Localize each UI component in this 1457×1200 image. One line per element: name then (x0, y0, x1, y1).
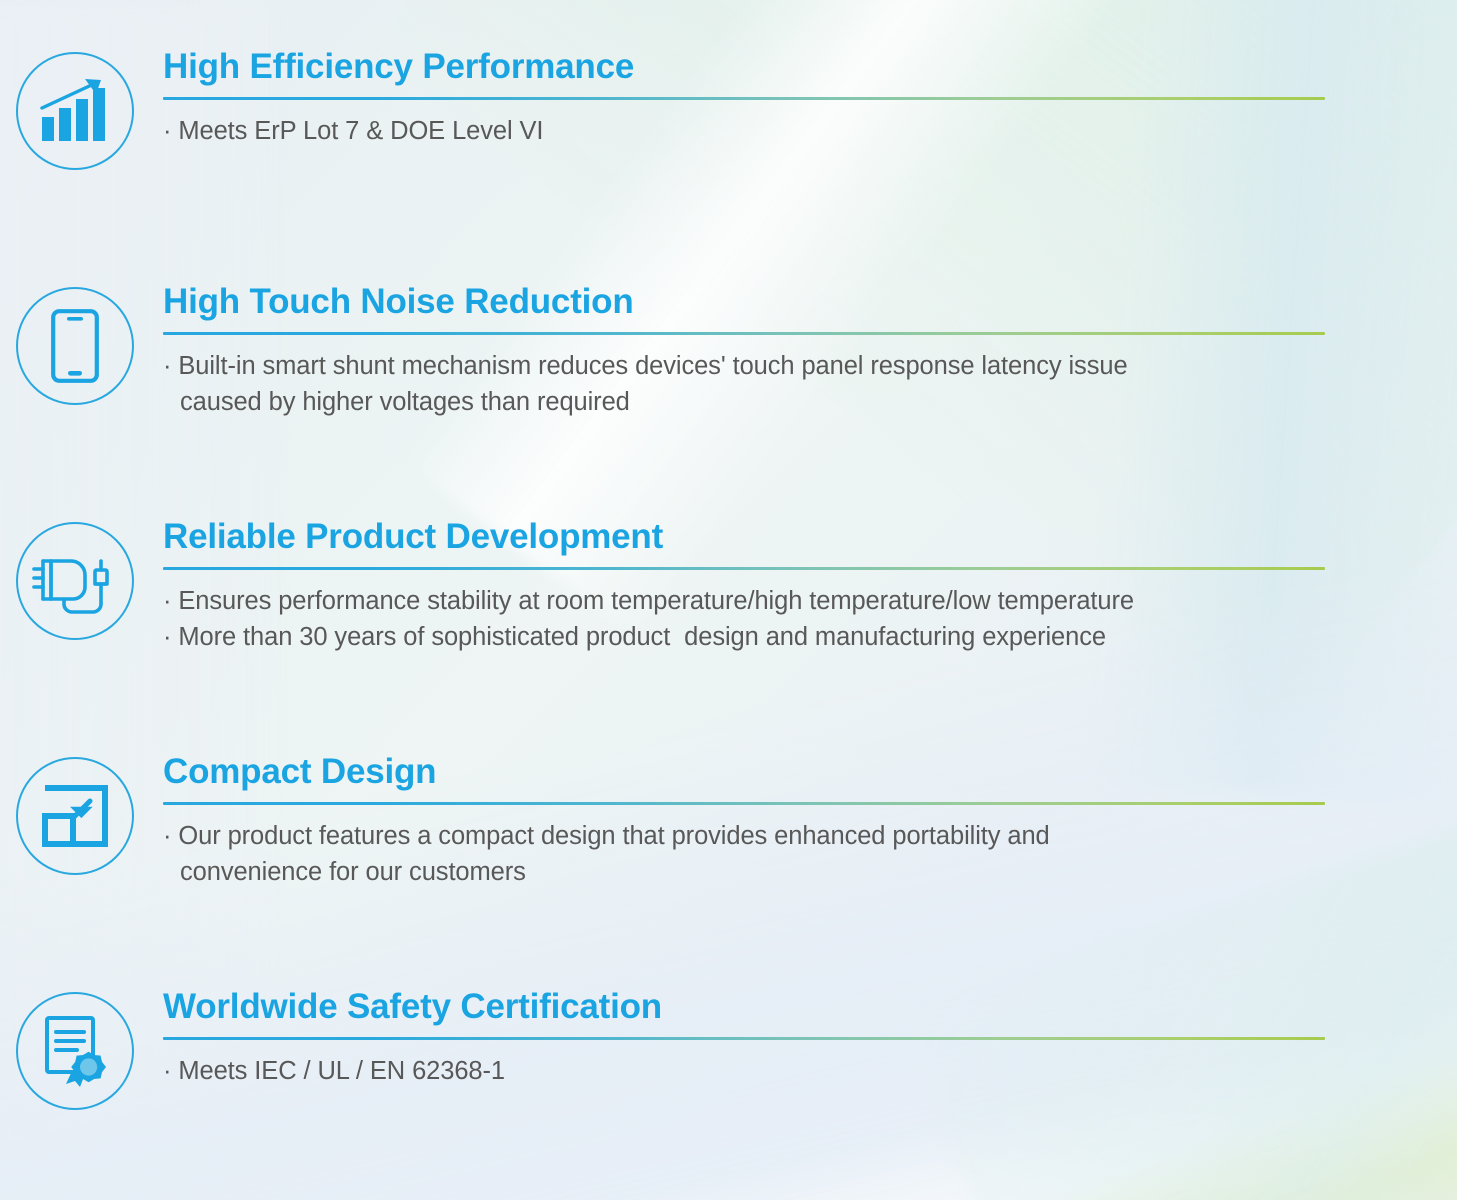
feature-title: High Efficiency Performance (163, 48, 1375, 86)
feature-title: Reliable Product Development (163, 518, 1375, 556)
feature-icon-wrap (0, 988, 150, 1110)
icon-circle (16, 287, 134, 405)
compact-resize-icon (40, 783, 110, 849)
feature-icon-wrap (0, 283, 150, 405)
feature-text-column: Worldwide Safety Certification · Meets I… (150, 988, 1457, 1089)
feature-icon-wrap (0, 48, 150, 170)
feature-text-column: High Touch Noise Reduction · Built-in sm… (150, 283, 1457, 420)
smartphone-icon (51, 309, 99, 383)
feature-bullet: caused by higher voltages than required (163, 384, 1343, 420)
feature-bullet: · Our product features a compact design … (163, 818, 1343, 854)
feature-row: High Efficiency Performance · Meets ErP … (0, 48, 1457, 170)
certificate-seal-icon (39, 1014, 111, 1088)
icon-circle (16, 52, 134, 170)
power-adapter-icon (31, 547, 119, 615)
feature-bullet: · More than 30 years of sophisticated pr… (163, 619, 1343, 655)
feature-body: · Built-in smart shunt mechanism reduces… (163, 348, 1343, 420)
feature-body: · Meets ErP Lot 7 & DOE Level VI (163, 113, 1343, 149)
feature-row: High Touch Noise Reduction · Built-in sm… (0, 283, 1457, 420)
feature-title: Compact Design (163, 753, 1375, 791)
icon-circle (16, 757, 134, 875)
feature-divider (163, 1037, 1325, 1040)
feature-row: Worldwide Safety Certification · Meets I… (0, 988, 1457, 1110)
feature-icon-wrap (0, 753, 150, 875)
feature-divider (163, 332, 1325, 335)
icon-circle (16, 522, 134, 640)
feature-list-page: High Efficiency Performance · Meets ErP … (0, 0, 1457, 1200)
feature-row: Reliable Product Development · Ensures p… (0, 518, 1457, 655)
feature-bullet: convenience for our customers (163, 854, 1343, 890)
icon-circle (16, 992, 134, 1110)
feature-title: High Touch Noise Reduction (163, 283, 1375, 321)
feature-bullet: · Ensures performance stability at room … (163, 583, 1343, 619)
feature-bullet: · Meets ErP Lot 7 & DOE Level VI (163, 113, 1343, 149)
feature-divider (163, 97, 1325, 100)
feature-title: Worldwide Safety Certification (163, 988, 1375, 1026)
bar-chart-growth-icon (38, 77, 112, 145)
feature-text-column: High Efficiency Performance · Meets ErP … (150, 48, 1457, 149)
feature-text-column: Compact Design · Our product features a … (150, 753, 1457, 890)
feature-body: · Meets IEC / UL / EN 62368-1 (163, 1053, 1343, 1089)
feature-body: · Our product features a compact design … (163, 818, 1343, 890)
feature-text-column: Reliable Product Development · Ensures p… (150, 518, 1457, 655)
feature-divider (163, 567, 1325, 570)
feature-bullet: · Built-in smart shunt mechanism reduces… (163, 348, 1343, 384)
feature-body: · Ensures performance stability at room … (163, 583, 1343, 655)
feature-row: Compact Design · Our product features a … (0, 753, 1457, 890)
feature-icon-wrap (0, 518, 150, 640)
feature-bullet: · Meets IEC / UL / EN 62368-1 (163, 1053, 1343, 1089)
feature-divider (163, 802, 1325, 805)
